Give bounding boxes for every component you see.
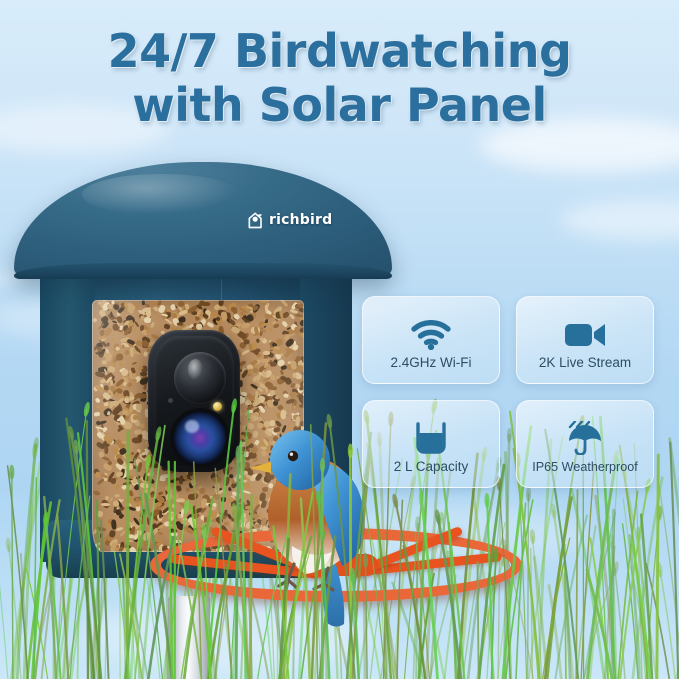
headline: 24/7 Birdwatching with Solar Panel xyxy=(0,24,679,133)
feeder-pole xyxy=(168,596,210,679)
feature-badge-weatherproof[interactable]: IP65 Weatherproof xyxy=(516,400,654,488)
umbrella-rain-icon xyxy=(563,415,607,455)
feature-label: 2 L Capacity xyxy=(394,459,469,474)
headline-line-1: 24/7 Birdwatching xyxy=(108,24,572,78)
wifi-icon xyxy=(411,310,451,350)
feature-badge-wifi[interactable]: 2.4GHz Wi-Fi xyxy=(362,296,500,384)
feature-badge-capacity[interactable]: 2 L Capacity xyxy=(362,400,500,488)
headline-line-2: with Solar Panel xyxy=(0,78,679,132)
video-camera-icon xyxy=(563,310,607,350)
feature-label: 2K Live Stream xyxy=(539,355,631,370)
feature-label: 2.4GHz Wi-Fi xyxy=(391,355,472,370)
container-capacity-icon xyxy=(412,414,450,454)
product-banner: 24/7 Birdwatching with Solar Panel xyxy=(0,0,679,679)
feature-label: IP65 Weatherproof xyxy=(532,460,637,474)
feature-badge-grid: 2.4GHz Wi-Fi 2K Live Stream 2 L Capacity xyxy=(362,296,656,488)
feature-badge-live-stream[interactable]: 2K Live Stream xyxy=(516,296,654,384)
